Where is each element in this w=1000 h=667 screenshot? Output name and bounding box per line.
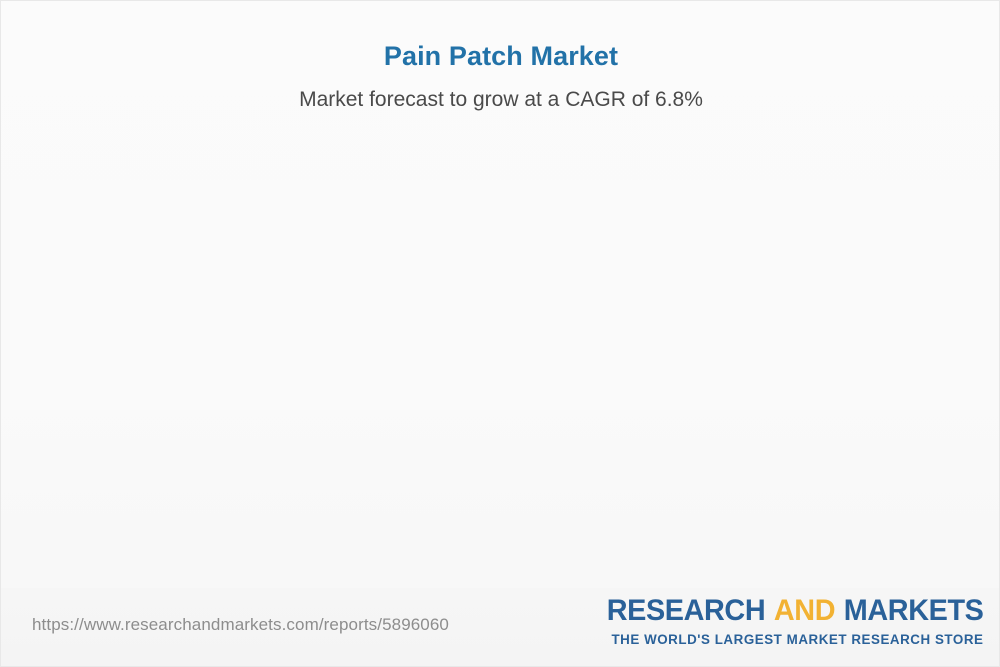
logo-word-and: AND: [773, 594, 834, 627]
plot-area: USD 4.48 Billion 2025 USD 5.82 Billion: [1, 1, 1000, 601]
logo-wordmark: RESEARCHANDMARKETS: [606, 596, 983, 626]
report-url-link[interactable]: https://www.researchandmarkets.com/repor…: [32, 615, 449, 635]
logo-word-markets: MARKETS: [843, 594, 983, 627]
footer: https://www.researchandmarkets.com/repor…: [1, 588, 1000, 666]
logo-word-research: RESEARCH: [606, 594, 765, 627]
logo-tagline: THE WORLD'S LARGEST MARKET RESEARCH STOR…: [594, 633, 983, 647]
brand-logo[interactable]: RESEARCHANDMARKETS THE WORLD'S LARGEST M…: [591, 596, 983, 647]
chart-canvas: Pain Patch Market Market forecast to gro…: [0, 0, 1000, 667]
